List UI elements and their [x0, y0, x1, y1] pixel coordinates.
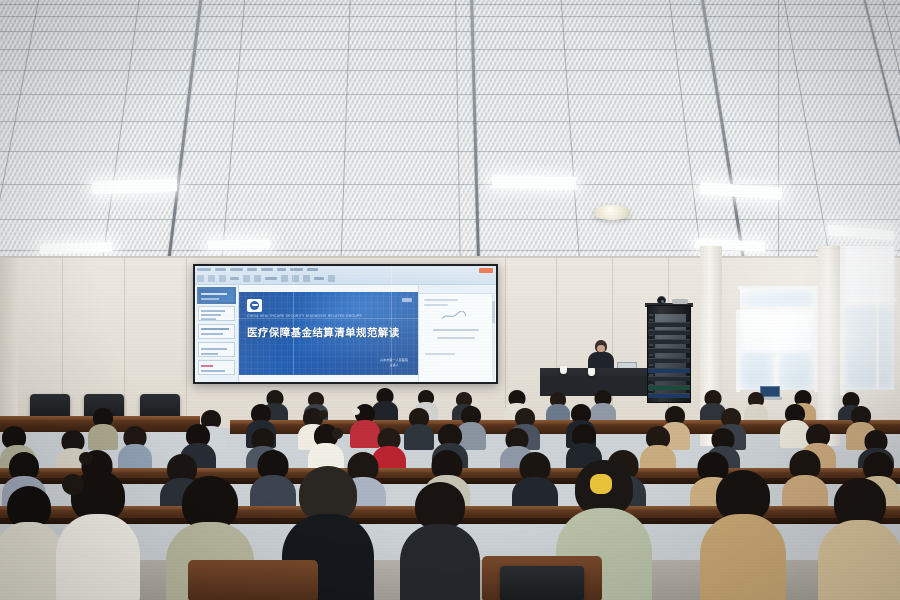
- chair-seat: [500, 566, 584, 600]
- dome-ceiling-light: [594, 205, 630, 220]
- empty-chair: [140, 394, 180, 418]
- chs-drg-logo: [247, 299, 262, 312]
- notes-pane[interactable]: [418, 285, 496, 382]
- attendee: [404, 408, 434, 446]
- slide-footer-line-1: 兴水市第一人民医院: [380, 358, 408, 363]
- attendee: [56, 470, 140, 600]
- attendee: [744, 392, 768, 422]
- attendee: [512, 452, 558, 510]
- slide-footer-line-2: 主讲人: [380, 363, 408, 368]
- slide-footer: 兴水市第一人民医院 主讲人: [380, 358, 408, 367]
- conference-room-photo: CHINA HEALTHCARE SECURITY DIAGNOSIS RELA…: [0, 0, 900, 600]
- notes-pane-header: [419, 285, 496, 294]
- chair-back-rail: [188, 560, 318, 600]
- thumbnail-slide-4[interactable]: [198, 342, 235, 357]
- wall-left-column: [0, 258, 18, 433]
- window-pane: [740, 289, 814, 307]
- handwriting-mark-icon: [441, 311, 467, 321]
- slide-corner-badge: [402, 298, 412, 302]
- water-cup: [588, 368, 595, 376]
- ceiling-panel-light: [492, 175, 576, 189]
- notes-scrollbar[interactable]: [492, 295, 495, 380]
- attendee: [0, 486, 64, 600]
- empty-chair: [30, 394, 70, 418]
- wall-pillar: [818, 246, 840, 446]
- ribbon-toolbar[interactable]: [195, 266, 496, 285]
- ceiling-panel-light: [208, 239, 270, 249]
- ceiling: [0, 0, 900, 272]
- sprinkler-head: [603, 225, 613, 235]
- ribbon-accent-button[interactable]: [479, 268, 493, 273]
- slide-title: 医疗保障基金结算清单规范解读: [247, 325, 412, 340]
- logo-emblem: [250, 301, 259, 310]
- rack-top-device: [672, 299, 688, 304]
- thumbnail-slide-5[interactable]: [198, 360, 235, 375]
- thumbnail-slide-1[interactable]: [198, 288, 235, 303]
- sprinkler-head: [222, 176, 234, 188]
- slide-thumbnails[interactable]: [195, 285, 239, 382]
- attendee: [88, 408, 118, 446]
- projection-screen: CHINA HEALTHCARE SECURITY DIAGNOSIS RELA…: [193, 264, 498, 384]
- ceiling-tile-texture: [0, 0, 900, 272]
- attendee: [700, 470, 786, 600]
- thumbnail-slide-3[interactable]: [198, 324, 235, 339]
- attendee: [400, 482, 480, 600]
- attendee: [118, 426, 152, 472]
- av-equipment-rack: [647, 305, 691, 403]
- sprinkler-head: [18, 2, 32, 16]
- projected-presentation: CHINA HEALTHCARE SECURITY DIAGNOSIS RELA…: [195, 266, 496, 382]
- attendee: [818, 478, 900, 600]
- attendee: [308, 424, 344, 472]
- water-cup: [560, 366, 567, 374]
- presenter-face: [597, 345, 605, 352]
- sprinkler-head: [790, 0, 803, 13]
